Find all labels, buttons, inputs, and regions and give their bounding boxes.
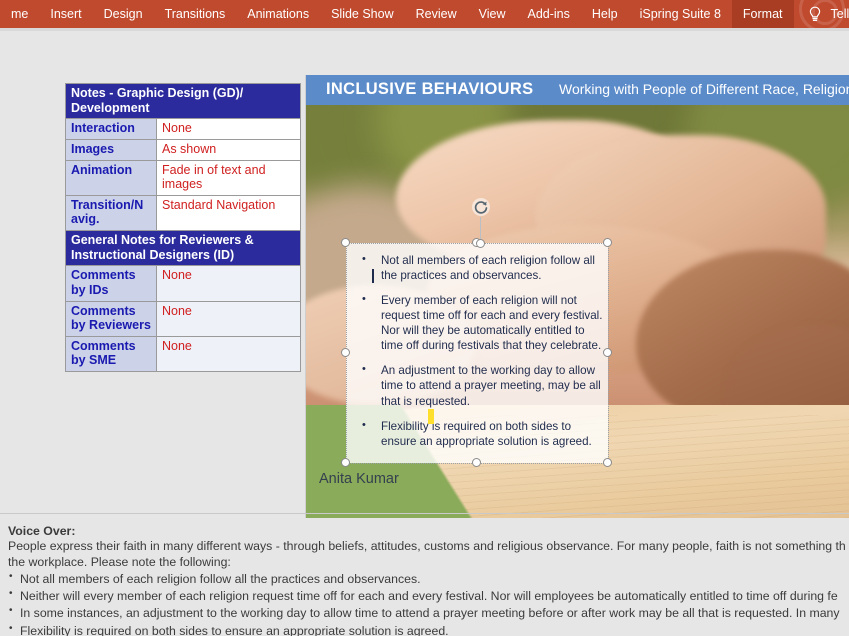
table-row: Animation Fade in of text and images (66, 160, 301, 195)
voice-over-bullet-2: Neither will every member of each religi… (8, 588, 849, 605)
notes-section-header-id: General Notes for Reviewers & Instructio… (66, 231, 301, 266)
voice-over-label: Voice Over: (8, 524, 849, 538)
ribbon-tab-design[interactable]: Design (93, 0, 154, 28)
voice-over-bullet-3: In some instances, an adjustment to the … (8, 605, 849, 622)
resize-handle-middle-right[interactable] (603, 348, 612, 357)
row-label-images: Images (66, 139, 157, 160)
presenter-name-label: Anita Kumar (319, 471, 399, 487)
table-row: Transition/N avig. Standard Navigation (66, 195, 301, 230)
office-watermark-icon (799, 0, 845, 28)
ribbon-tab-help[interactable]: Help (581, 0, 629, 28)
row-value-transition: Standard Navigation (157, 195, 301, 230)
row-value-interaction: None (157, 119, 301, 140)
ribbon-tab-transitions[interactable]: Transitions (154, 0, 237, 28)
resize-handle-bottom-left[interactable] (341, 458, 350, 467)
ribbon-tab-animations[interactable]: Animations (236, 0, 320, 28)
row-label-comments-sme: Comments by SME (66, 336, 157, 371)
table-row: Notes - Graphic Design (GD)/ Development (66, 84, 301, 119)
notes-pane[interactable]: Voice Over: People express their faith i… (0, 518, 849, 636)
table-row: Comments by Reviewers None (66, 301, 301, 336)
row-value-animation: Fade in of text and images (157, 160, 301, 195)
table-row: Interaction None (66, 119, 301, 140)
table-row: Comments by SME None (66, 336, 301, 371)
resize-handle-bottom-right[interactable] (603, 458, 612, 467)
ribbon-tab-view[interactable]: View (468, 0, 517, 28)
graphic-design-notes-table: Notes - Graphic Design (GD)/ Development… (65, 83, 301, 372)
voice-over-bullet-4: Flexibility is required on both sides to… (8, 623, 849, 636)
resize-handle-top-left[interactable] (341, 238, 350, 247)
textbox-bullet-2: Every member of each religion will not r… (354, 293, 604, 353)
ribbon-tab-format[interactable]: Format (732, 0, 794, 28)
row-label-comments-ids: Comments by IDs (66, 266, 157, 301)
ribbon-tab-insert[interactable]: Insert (39, 0, 92, 28)
textbox-bullet-4: Flexibility is required on both sides to… (354, 419, 604, 449)
slide-text-box-content: Not all members of each religion follow … (354, 253, 604, 459)
resize-handle-top-right[interactable] (603, 238, 612, 247)
ribbon-tab-add-ins[interactable]: Add-ins (517, 0, 581, 28)
table-row: Comments by IDs None (66, 266, 301, 301)
row-value-comments-sme: None (157, 336, 301, 371)
textbox-bullet-3: An adjustment to the working day to allo… (354, 363, 604, 408)
resize-handle-middle-left[interactable] (341, 348, 350, 357)
row-label-animation: Animation (66, 160, 157, 195)
row-value-comments-reviewers: None (157, 301, 301, 336)
table-row: General Notes for Reviewers & Instructio… (66, 231, 301, 266)
text-cursor (372, 269, 374, 283)
textbox-bullet-1: Not all members of each religion follow … (354, 253, 604, 283)
ribbon-tab-review[interactable]: Review (405, 0, 468, 28)
voice-over-bullet-1: Not all members of each religion follow … (8, 571, 849, 588)
slide-title-bar[interactable]: INCLUSIVE BEHAVIOURS Working with People… (306, 75, 849, 105)
yellow-highlight-caret (428, 409, 434, 424)
voice-over-paragraph: People express their faith in many diffe… (8, 539, 849, 571)
row-label-interaction: Interaction (66, 119, 157, 140)
resize-handle-bottom-center[interactable] (472, 458, 481, 467)
rotation-handle-anchor[interactable] (476, 239, 485, 248)
workspace-notes-divider (0, 513, 849, 514)
notes-section-header-gd: Notes - Graphic Design (GD)/ Development (66, 84, 301, 119)
row-value-images: As shown (157, 139, 301, 160)
row-label-comments-reviewers: Comments by Reviewers (66, 301, 157, 336)
slide-canvas[interactable]: INCLUSIVE BEHAVIOURS Working with People… (305, 75, 849, 525)
slide-workspace: Notes - Graphic Design (GD)/ Development… (0, 31, 849, 514)
ribbon-tab-slide-show[interactable]: Slide Show (320, 0, 405, 28)
rotate-icon[interactable] (471, 197, 491, 217)
ribbon-tab-home[interactable]: me (0, 0, 39, 28)
table-row: Images As shown (66, 139, 301, 160)
row-label-transition: Transition/N avig. (66, 195, 157, 230)
slide-subtitle: Working with People of Different Race, R… (559, 81, 849, 97)
ribbon-tab-ispring-suite[interactable]: iSpring Suite 8 (629, 0, 732, 28)
ribbon-tab-bar: meInsertDesignTransitionsAnimationsSlide… (0, 0, 849, 28)
slide-title: INCLUSIVE BEHAVIOURS (326, 80, 533, 99)
row-value-comments-ids: None (157, 266, 301, 301)
slide-text-box[interactable]: Not all members of each religion follow … (346, 243, 608, 463)
